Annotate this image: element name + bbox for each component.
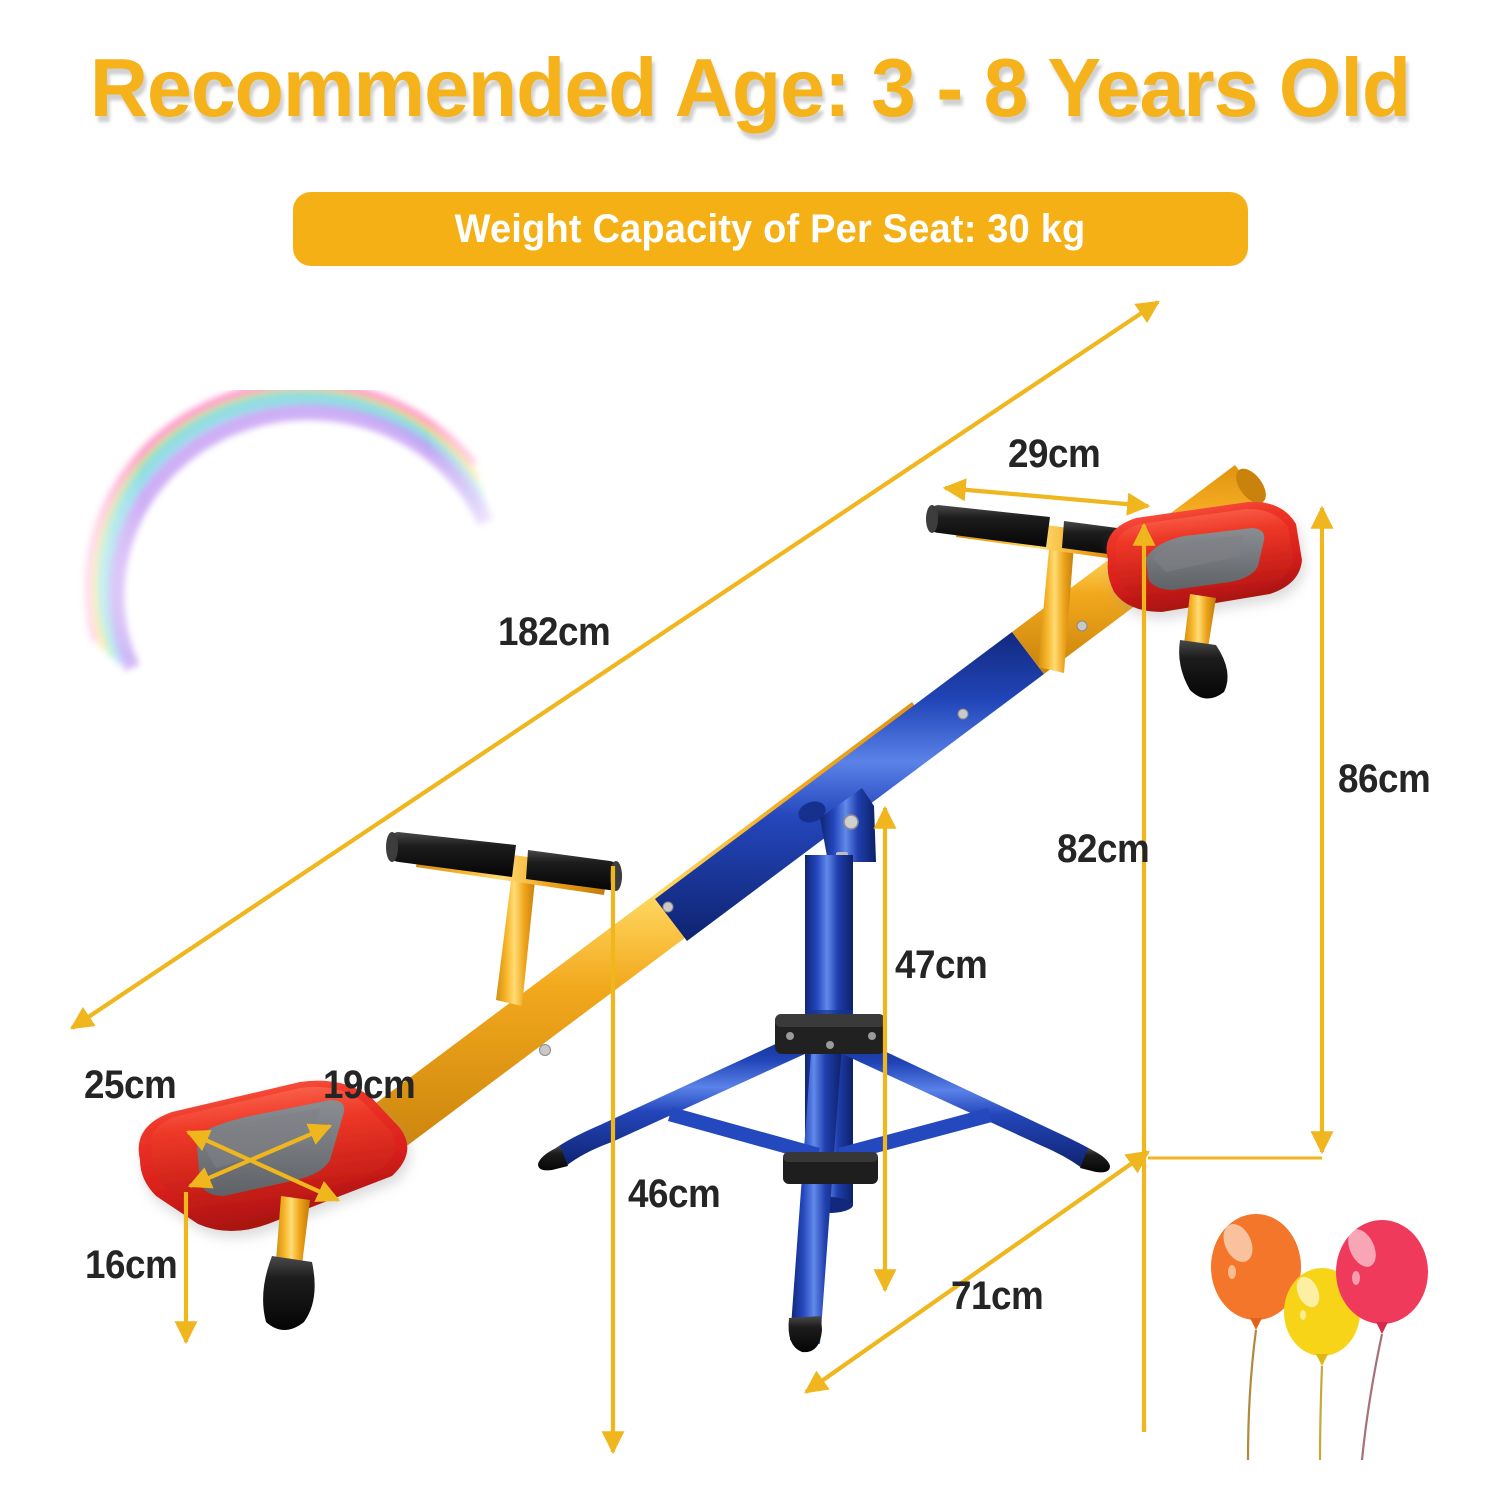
balloon-orange-icon <box>1211 1214 1301 1460</box>
dim-label-71cm: 71cm <box>951 1274 1043 1319</box>
black-handle-grips-left <box>386 832 622 891</box>
upper-clamp <box>775 1014 885 1054</box>
dim-label-16cm: 16cm <box>85 1243 177 1288</box>
right-seat-post <box>1179 594 1227 699</box>
dim-label-25cm: 25cm <box>84 1063 176 1108</box>
dim-label-19cm: 19cm <box>323 1063 415 1108</box>
product-dimension-diagram: Recommended Age: 3 - 8 Years Old Weight … <box>0 0 1500 1500</box>
dim-label-29cm: 29cm <box>1008 432 1100 477</box>
red-seat-right <box>1107 502 1302 612</box>
rainbow-icon <box>93 390 486 668</box>
dim-label-47cm: 47cm <box>895 943 987 988</box>
lower-clamp <box>783 1152 878 1184</box>
product-illustration <box>0 0 1500 1500</box>
dim-label-182cm: 182cm <box>498 610 610 655</box>
dim-label-46cm: 46cm <box>628 1172 720 1217</box>
balloons-decoration <box>1211 1214 1428 1460</box>
dim-label-86cm: 86cm <box>1338 757 1430 802</box>
dim-label-82cm: 82cm <box>1057 827 1149 872</box>
